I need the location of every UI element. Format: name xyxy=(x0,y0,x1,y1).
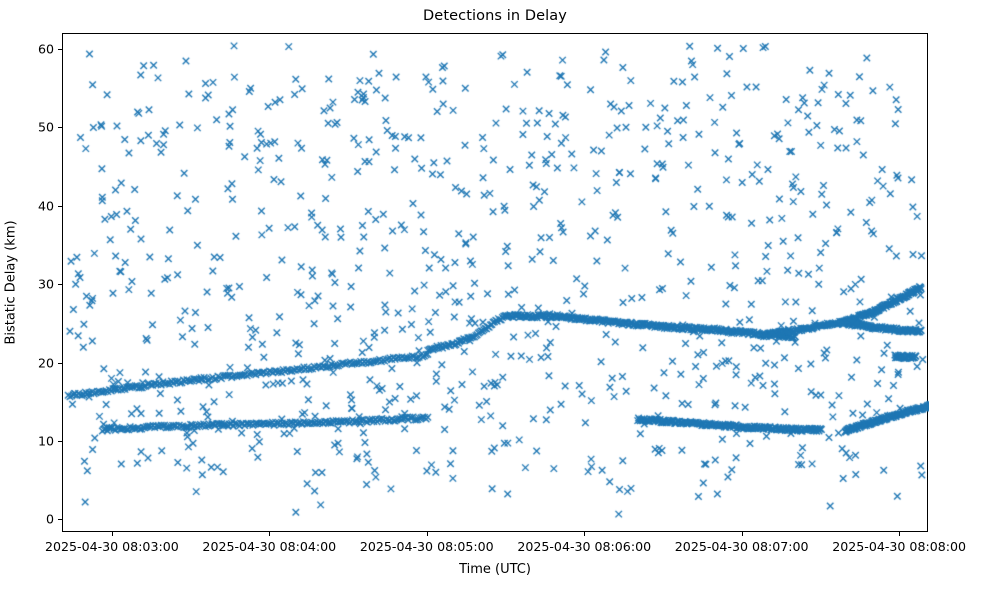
x-tick-mark xyxy=(112,532,113,536)
y-tick-mark xyxy=(58,284,62,285)
x-tick-mark xyxy=(269,532,270,536)
y-tick-label: 50 xyxy=(10,120,54,135)
y-tick-mark xyxy=(58,363,62,364)
chart-title: Detections in Delay xyxy=(62,8,928,24)
y-tick-mark xyxy=(58,206,62,207)
figure-canvas: Detections in Delay Bistatic Delay (km) … xyxy=(0,0,987,590)
scatter-plot-canvas xyxy=(63,34,929,533)
x-tick-label: 2025-04-30 08:03:00 xyxy=(45,539,179,554)
x-tick-mark xyxy=(899,532,900,536)
y-tick-label: 30 xyxy=(10,277,54,292)
x-tick-mark xyxy=(584,532,585,536)
y-tick-label: 40 xyxy=(10,198,54,213)
y-tick-mark xyxy=(58,49,62,50)
x-tick-label: 2025-04-30 08:05:00 xyxy=(360,539,494,554)
x-tick-mark xyxy=(742,532,743,536)
plot-axes xyxy=(62,33,928,532)
x-tick-label: 2025-04-30 08:06:00 xyxy=(517,539,651,554)
y-tick-label: 20 xyxy=(10,355,54,370)
x-tick-label: 2025-04-30 08:04:00 xyxy=(202,539,336,554)
x-tick-mark xyxy=(427,532,428,536)
y-tick-label: 0 xyxy=(10,512,54,527)
y-tick-label: 60 xyxy=(10,41,54,56)
y-tick-mark xyxy=(58,441,62,442)
x-tick-label: 2025-04-30 08:07:00 xyxy=(675,539,809,554)
y-tick-mark xyxy=(58,519,62,520)
y-tick-mark xyxy=(58,127,62,128)
y-tick-label: 10 xyxy=(10,433,54,448)
x-axis-label: Time (UTC) xyxy=(62,562,928,577)
x-tick-label: 2025-04-30 08:08:00 xyxy=(832,539,966,554)
